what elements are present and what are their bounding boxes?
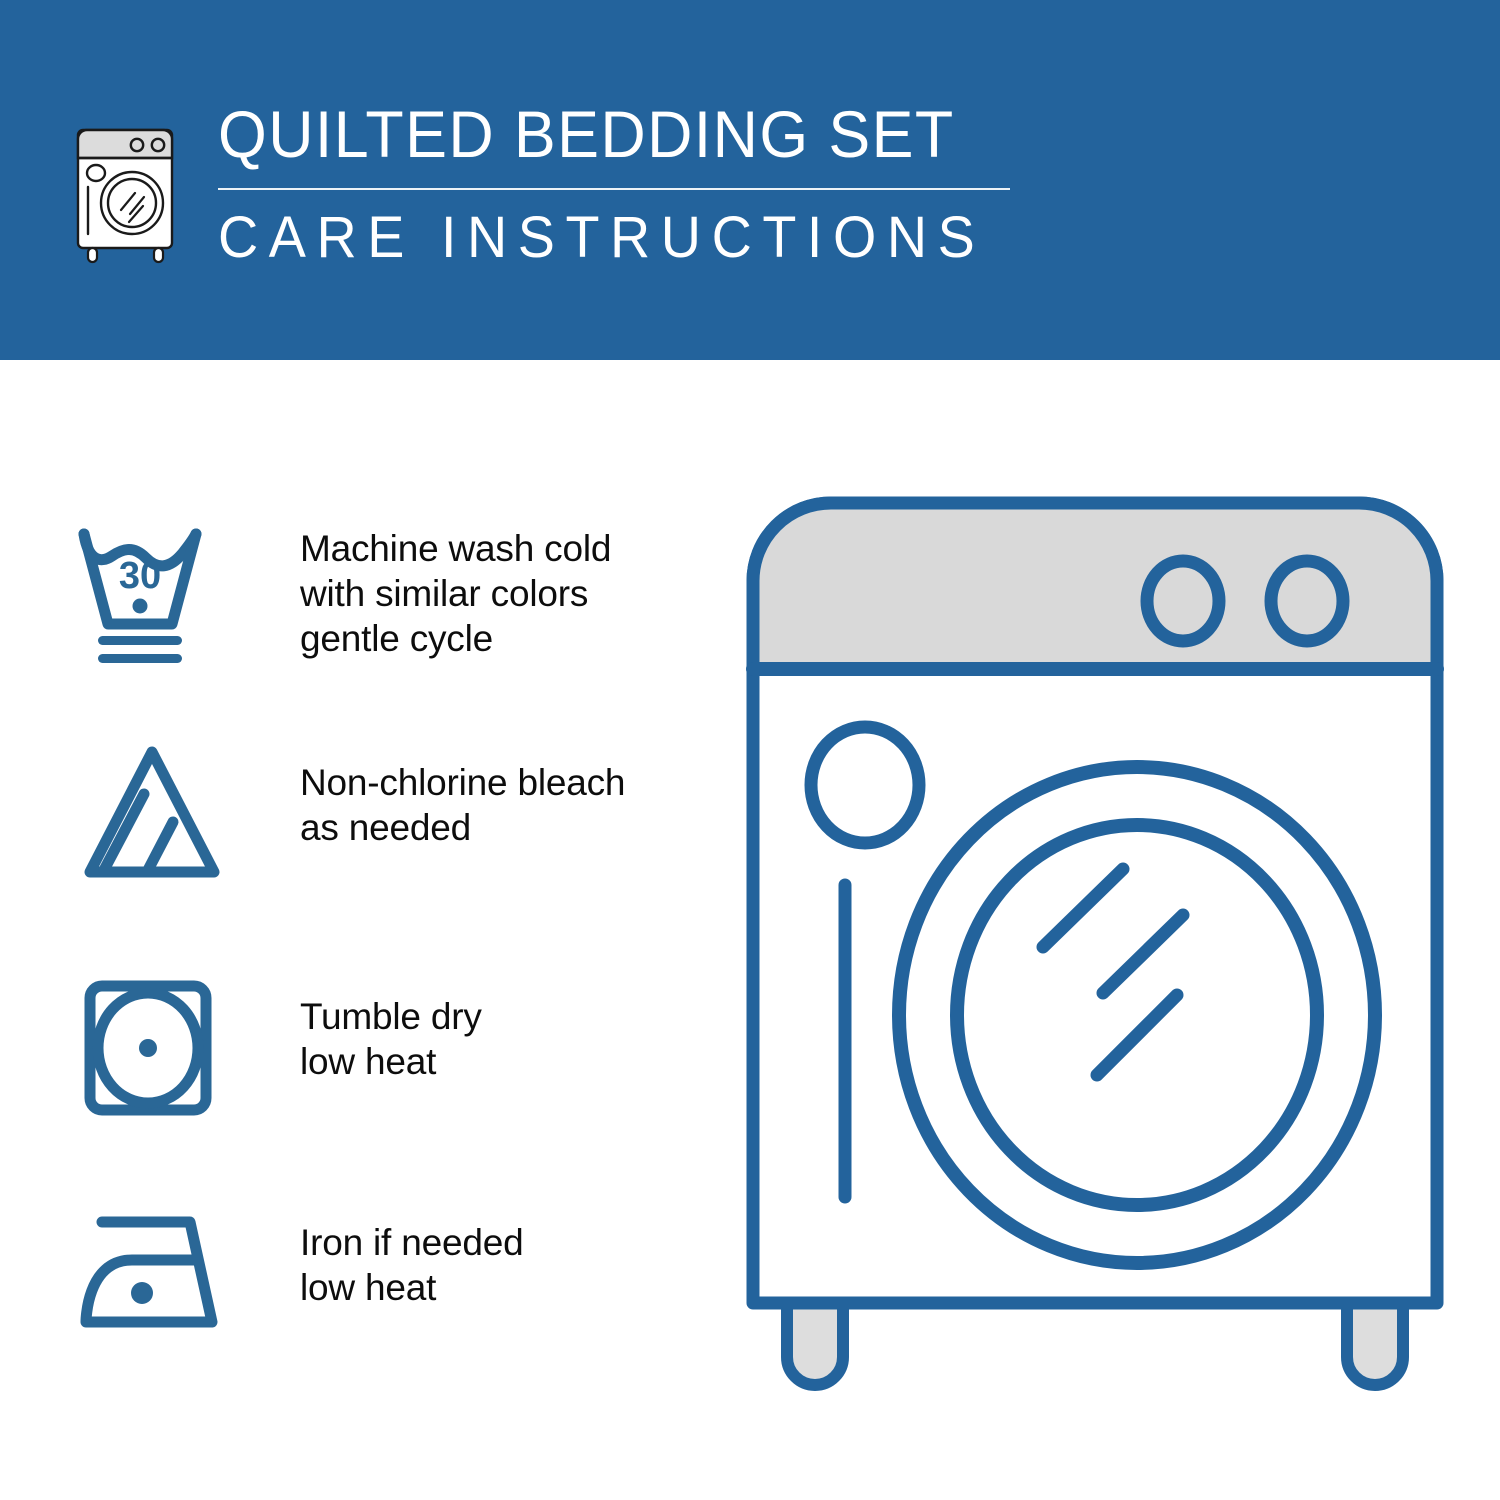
care-row-tumble-dry: Tumble dry low heat (72, 972, 712, 1122)
care-text-line: with similar colors (300, 571, 611, 616)
care-text-line: gentle cycle (300, 616, 611, 661)
care-text-line: Machine wash cold (300, 526, 611, 571)
care-row-bleach: Non-chlorine bleach as needed (72, 738, 712, 888)
washing-machine-icon (66, 108, 188, 273)
iron-low-heat-icon (72, 1198, 234, 1348)
wash-temperature-label: 30 (119, 555, 161, 597)
header-title-block: QUILTED BEDDING SET CARE INSTRUCTIONS (218, 98, 1018, 270)
care-text-line: Iron if needed (300, 1220, 523, 1265)
knob-right (1271, 561, 1343, 641)
care-text-line: low heat (300, 1039, 482, 1084)
care-text-line: Non-chlorine bleach (300, 760, 625, 805)
non-chlorine-bleach-triangle-icon (72, 738, 234, 888)
care-text-iron: Iron if needed low heat (300, 1198, 523, 1310)
care-row-machine-wash: 30 Machine wash cold with similar colors… (72, 520, 712, 670)
drum-inner (957, 825, 1317, 1205)
title-divider (218, 188, 1010, 190)
care-instruction-list: 30 Machine wash cold with similar colors… (0, 360, 730, 1500)
front-load-washing-machine-illustration (745, 495, 1445, 1415)
page-title: QUILTED BEDDING SET (218, 98, 978, 170)
tumble-dry-low-heat-icon (72, 972, 234, 1122)
care-text-line: as needed (300, 805, 625, 850)
care-text-line: Tumble dry (300, 994, 482, 1039)
care-row-iron: Iron if needed low heat (72, 1198, 712, 1348)
care-text-tumble-dry: Tumble dry low heat (300, 972, 482, 1084)
wash-basin-30-gentle-icon: 30 (72, 520, 234, 670)
care-text-bleach: Non-chlorine bleach as needed (300, 738, 625, 850)
knob-left (1147, 561, 1219, 641)
page-subtitle: CARE INSTRUCTIONS (218, 206, 986, 270)
detergent-dispenser (811, 727, 919, 843)
care-text-line: low heat (300, 1265, 523, 1310)
header-banner: QUILTED BEDDING SET CARE INSTRUCTIONS (0, 0, 1500, 360)
care-text-machine-wash: Machine wash cold with similar colors ge… (300, 520, 611, 661)
